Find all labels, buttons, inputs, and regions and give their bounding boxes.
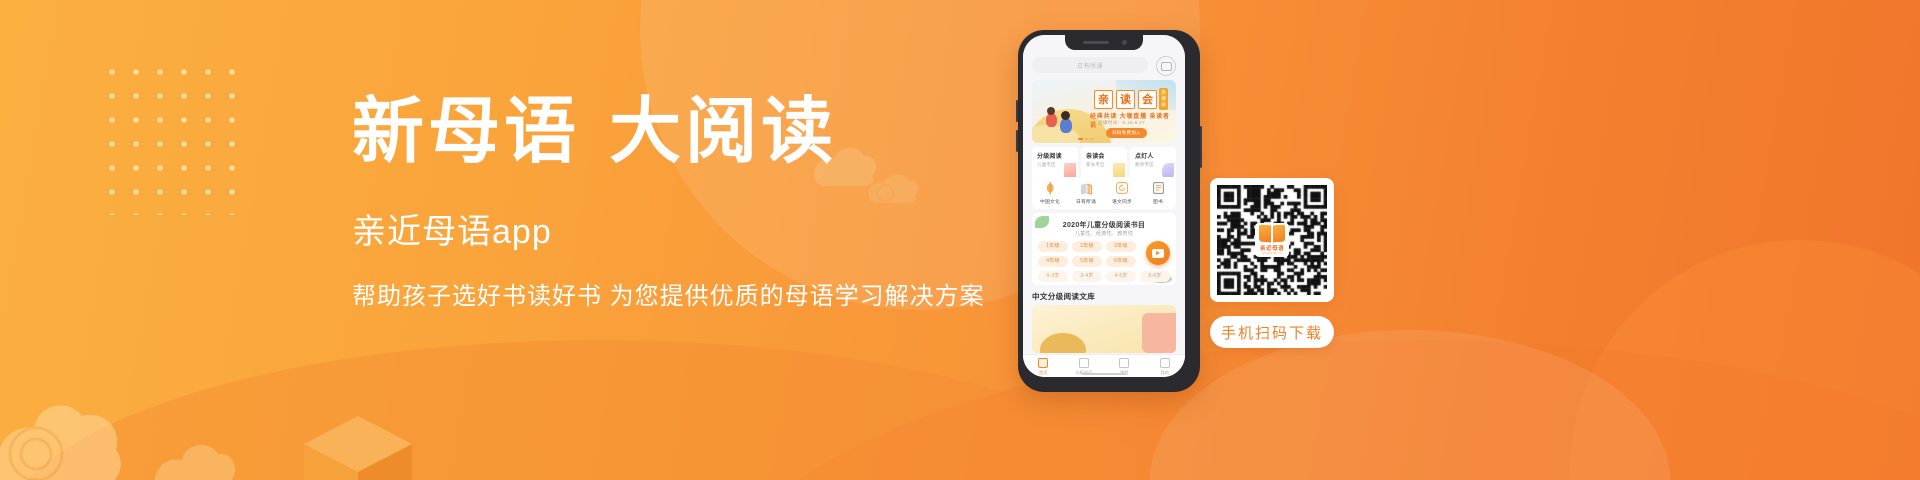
play-video-icon[interactable] xyxy=(1146,241,1170,265)
camera-icon xyxy=(1122,40,1127,45)
search-input[interactable]: 日有所诵 xyxy=(1032,57,1148,73)
lantern-icon xyxy=(1032,182,1068,195)
hero-title-char-1: 亲 xyxy=(1094,90,1113,109)
tab-profile[interactable]: 我的 xyxy=(1145,355,1186,377)
age-tag[interactable]: 4-5岁 xyxy=(1106,271,1136,282)
phone-volume-down-button xyxy=(1016,130,1018,152)
banner-description: 帮助孩子选好书读好书 为您提供优质的母语学习解决方案 xyxy=(352,254,1052,314)
phone-screen: 日有所诵 亲 读 会 亲读会 经典 xyxy=(1023,35,1185,377)
book-logo-icon xyxy=(1259,225,1285,242)
age-tag[interactable]: 5-6岁 xyxy=(1140,271,1170,282)
dot-grid-icon xyxy=(100,60,250,215)
carousel-dot-2[interactable] xyxy=(1085,138,1088,140)
decor-phone-glow xyxy=(1150,330,1670,480)
message-icon[interactable] xyxy=(1156,56,1176,76)
tab-label: 首页 xyxy=(1023,370,1064,376)
reading-icon xyxy=(1079,358,1089,368)
age-tag[interactable]: 3-4岁 xyxy=(1072,271,1102,282)
decor-circle-bottom-right xyxy=(1570,240,1920,480)
logo-subtitle: QIN JIN MU YU xyxy=(1262,252,1282,255)
qr-code[interactable]: 亲近母语 QIN JIN MU YU xyxy=(1210,178,1334,302)
tab-label: 我的 xyxy=(1145,370,1186,376)
cloud-icon xyxy=(0,380,130,480)
grade-tag[interactable]: 1年级 xyxy=(1038,241,1068,252)
carousel-dot-1[interactable] xyxy=(1078,138,1083,140)
entry-card-title: 亲读会 xyxy=(1086,151,1122,160)
app-name-subtitle: 亲近母语app xyxy=(352,174,1052,254)
grade-tag[interactable]: 5年级 xyxy=(1072,256,1102,267)
app-screen: 日有所诵 亲 读 会 亲读会 经典 xyxy=(1023,35,1185,377)
scan-download-button[interactable]: 手机扫码下载 xyxy=(1210,316,1334,348)
brand-logo: 亲近母语 QIN JIN MU YU xyxy=(1255,223,1289,257)
booklist-card[interactable]: 2020年儿童分级阅读书目 儿童性、经典性、教育性 1年级 2年级 3年级 4年… xyxy=(1032,213,1176,285)
page-title: 新母语 大阅读 xyxy=(352,88,1052,174)
home-icon xyxy=(1038,358,1048,368)
hero-banner[interactable]: 亲 读 会 亲读会 经典共读 大咖直播 亲读者说 直播时间：9.16-9.27 … xyxy=(1032,80,1176,143)
cube-icon xyxy=(300,410,420,480)
hero-date: 直播时间：9.16-9.27 xyxy=(1098,120,1145,126)
grade-tag[interactable]: 6年级 xyxy=(1106,256,1136,267)
refresh-square-icon xyxy=(1104,182,1140,195)
child-illustration-1 xyxy=(1046,113,1057,127)
child-head-1 xyxy=(1047,107,1055,115)
grade-tag[interactable]: 4年级 xyxy=(1038,256,1068,267)
promo-banner: 新母语 大阅读 亲近母语app 帮助孩子选好书读好书 为您提供优质的母语学习解决… xyxy=(0,0,1920,480)
quick-icon-row: 中国文化 日有所诵 xyxy=(1032,177,1176,209)
age-row: 0-3岁 3-4岁 4-5岁 5-6岁 xyxy=(1038,271,1170,282)
phone-notch xyxy=(1065,35,1143,50)
library-decor-blob xyxy=(1040,333,1086,353)
open-book-icon xyxy=(1068,182,1104,195)
carousel-dot-3[interactable] xyxy=(1090,138,1093,140)
phone-volume-up-button xyxy=(1016,100,1018,122)
quick-icon-books[interactable]: 图书 xyxy=(1140,182,1176,205)
speaker-icon xyxy=(1083,41,1109,44)
banner-text-block: 新母语 大阅读 亲近母语app 帮助孩子选好书读好书 为您提供优质的母语学习解决… xyxy=(352,88,1052,314)
quick-icon-daily-recitation[interactable]: 日有所诵 xyxy=(1068,182,1104,205)
age-tag[interactable]: 0-3岁 xyxy=(1038,271,1068,282)
carousel-dots[interactable] xyxy=(1078,138,1093,140)
course-icon xyxy=(1119,358,1129,368)
qr-block: 亲近母语 QIN JIN MU YU 手机扫码下载 xyxy=(1210,178,1334,348)
user-icon xyxy=(1160,358,1170,368)
entry-card-title: 点灯人 xyxy=(1135,151,1171,160)
booklist-subtitle: 儿童性、经典性、教育性 xyxy=(1032,230,1176,237)
cloud-icon-small xyxy=(150,430,240,480)
search-placeholder: 日有所诵 xyxy=(1077,61,1103,70)
book-icon xyxy=(1140,182,1176,195)
hero-title-char-3: 会 xyxy=(1138,90,1157,109)
phone-power-button xyxy=(1200,126,1202,168)
quick-icon-label: 图书 xyxy=(1140,198,1176,205)
quick-icon-chinese-culture[interactable]: 中国文化 xyxy=(1032,182,1068,205)
logo-title: 亲近母语 xyxy=(1260,244,1284,252)
grade-tag[interactable]: 3年级 xyxy=(1106,241,1136,252)
entry-card-graded-reading[interactable]: 分级阅读 儿童专区 xyxy=(1032,147,1078,181)
entry-card-title: 分级阅读 xyxy=(1037,151,1073,160)
booklist-title: 2020年儿童分级阅读书目 xyxy=(1032,220,1176,230)
library-decor-card xyxy=(1142,313,1176,353)
entry-cards: 分级阅读 儿童专区 亲读会 家长专区 点灯人 教师专区 xyxy=(1032,147,1176,181)
decor-wave-back xyxy=(720,340,1920,480)
tab-home[interactable]: 首页 xyxy=(1023,355,1064,377)
hero-join-button[interactable]: 扫码免费加入 xyxy=(1106,128,1147,138)
library-section-title: 中文分级阅读文库 xyxy=(1032,291,1095,302)
scan-download-label: 手机扫码下载 xyxy=(1221,322,1323,343)
home-indicator xyxy=(1082,373,1126,375)
quick-icon-label: 中国文化 xyxy=(1032,198,1068,205)
hero-title-char-2: 读 xyxy=(1116,90,1135,109)
grade-tag[interactable]: 2年级 xyxy=(1072,241,1102,252)
hero-ribbon: 亲读会 xyxy=(1159,88,1168,110)
entry-card-parent-club[interactable]: 亲读会 家长专区 xyxy=(1081,147,1127,181)
entry-card-teacher[interactable]: 点灯人 教师专区 xyxy=(1130,147,1176,181)
quick-icon-label: 语文同步 xyxy=(1104,198,1140,205)
child-illustration-2 xyxy=(1060,118,1072,133)
library-card[interactable] xyxy=(1032,305,1176,353)
child-head-2 xyxy=(1061,111,1070,120)
hero-title: 亲 读 会 xyxy=(1094,90,1157,109)
quick-icon-textbook-sync[interactable]: 语文同步 xyxy=(1104,182,1140,205)
phone-mockup: 日有所诵 亲 读 会 亲读会 经典 xyxy=(1018,30,1200,392)
quick-icon-label: 日有所诵 xyxy=(1068,198,1104,205)
